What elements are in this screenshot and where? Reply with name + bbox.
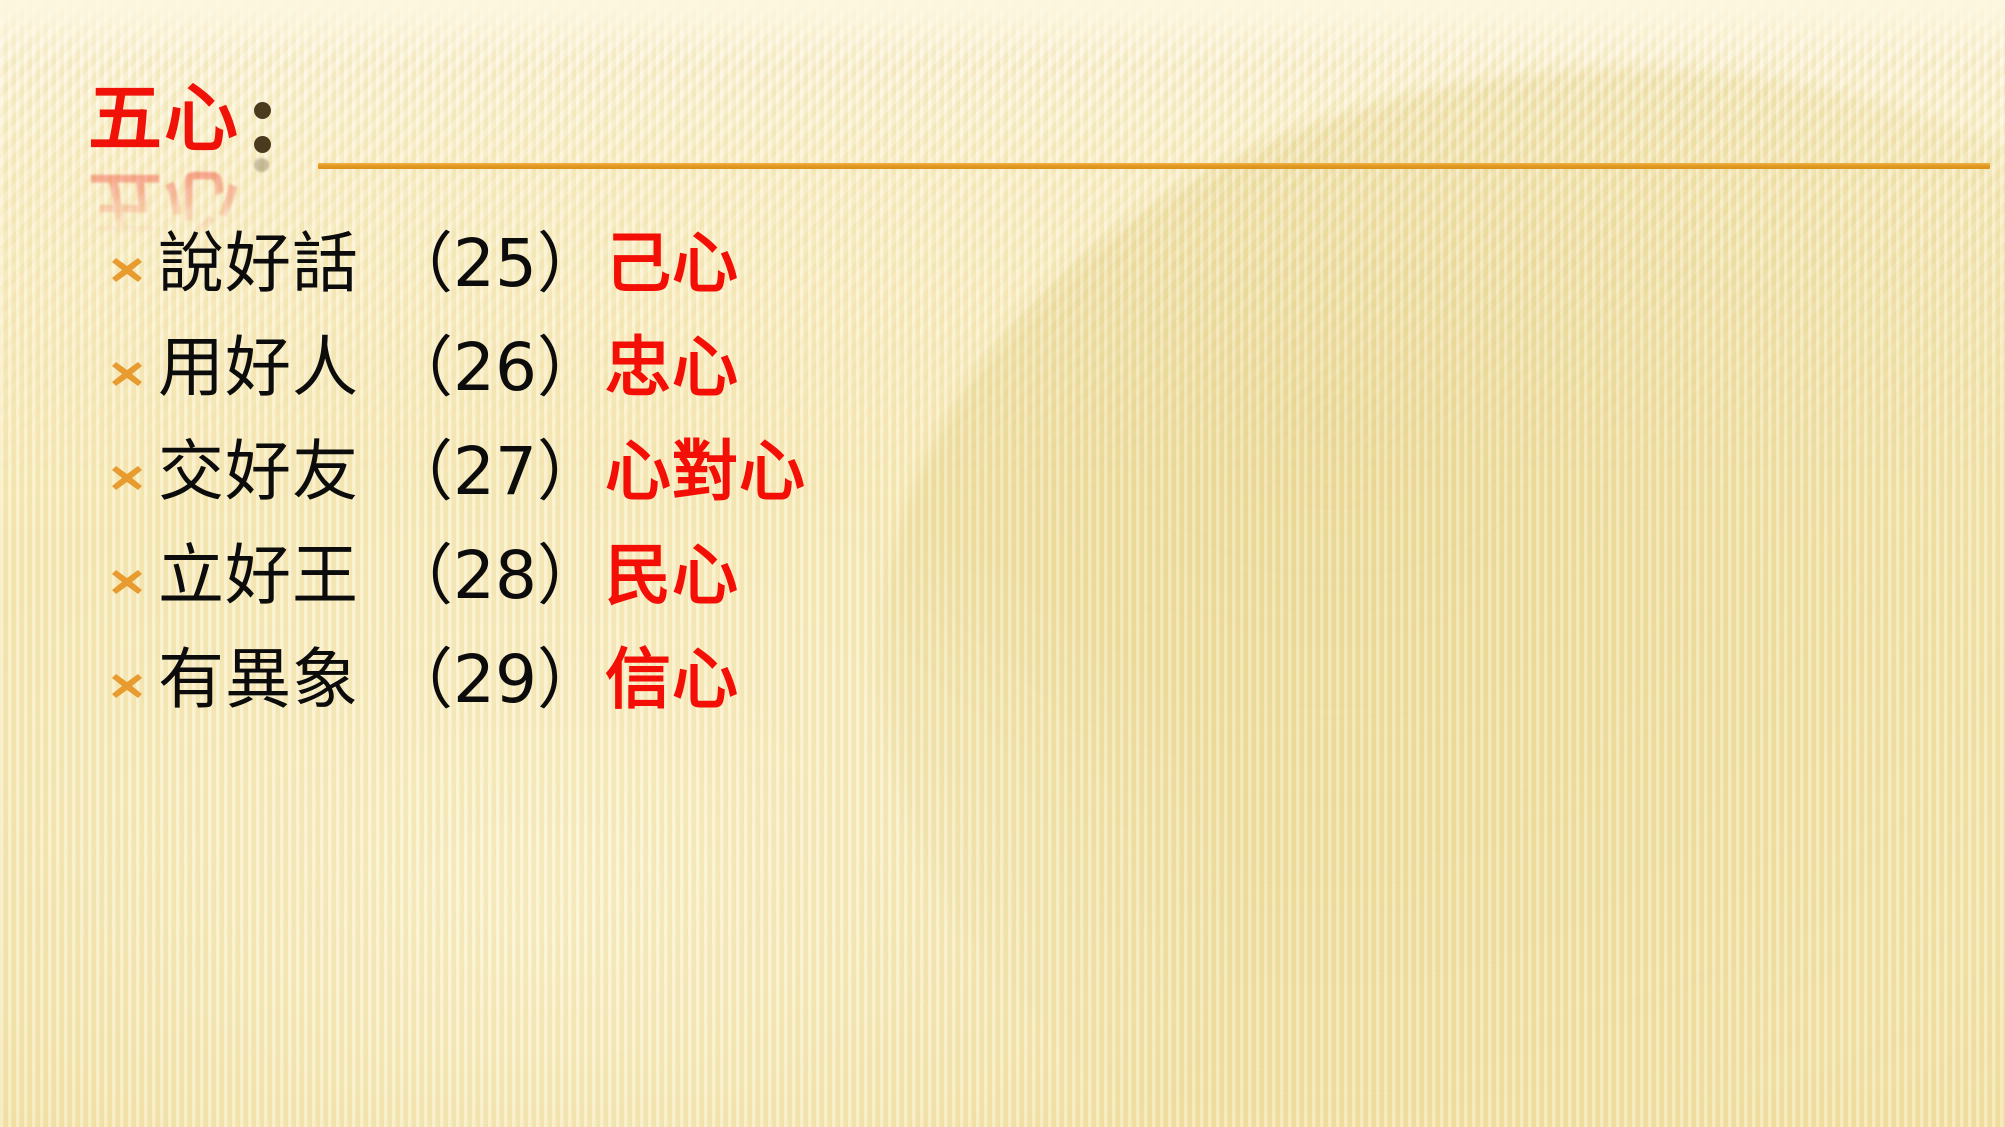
list-item-text: 說好話 （25） 己心 — [158, 231, 739, 297]
x-mark-icon — [96, 668, 158, 704]
list-item-number: （26） — [387, 335, 603, 401]
list-item-text: 交好友 （27） 心對心 — [158, 439, 806, 505]
list-item-action: 交好友 — [158, 439, 359, 505]
list-item: 交好友 （27） 心對心 — [96, 420, 1296, 524]
x-mark-icon — [96, 356, 158, 392]
list-item-number: （25） — [387, 231, 603, 297]
title-colon-icon — [246, 78, 286, 156]
list-item-highlight: 民心 — [605, 543, 739, 609]
list-item: 說好話 （25） 己心 — [96, 212, 1296, 316]
x-mark-icon — [96, 564, 158, 600]
list-item: 用好人 （26） 忠心 — [96, 316, 1296, 420]
presentation-slide: 五心 五心 說好話 （25） 己心 — [0, 0, 2005, 1127]
list-item-highlight: 心對心 — [605, 439, 806, 505]
list-item: 立好王 （28） 民心 — [96, 524, 1296, 628]
list-item-text: 立好王 （28） 民心 — [158, 543, 739, 609]
list-item-highlight: 忠心 — [605, 335, 739, 401]
background-top-highlight — [0, 0, 2005, 60]
list-item-number: （27） — [387, 439, 603, 505]
list-item-action: 說好話 — [158, 231, 359, 297]
list-item-number: （28） — [387, 543, 603, 609]
x-mark-icon — [96, 252, 158, 288]
list-item-text: 有異象 （29） 信心 — [158, 647, 739, 713]
list-item: 有異象 （29） 信心 — [96, 628, 1296, 732]
list-item-text: 用好人 （26） 忠心 — [158, 335, 739, 401]
list-item-action: 用好人 — [158, 335, 359, 401]
list-item-action: 立好王 — [158, 543, 359, 609]
list-item-number: （29） — [387, 647, 603, 713]
x-mark-icon — [96, 460, 158, 496]
list-item-action: 有異象 — [158, 647, 359, 713]
title-divider-rule — [318, 163, 1990, 169]
slide-title-block: 五心 五心 — [88, 78, 286, 156]
bullet-list: 說好話 （25） 己心 用好人 （26） 忠心 — [96, 212, 1296, 732]
list-item-highlight: 信心 — [605, 647, 739, 713]
list-item-highlight: 己心 — [605, 231, 739, 297]
slide-title: 五心 — [88, 82, 240, 156]
